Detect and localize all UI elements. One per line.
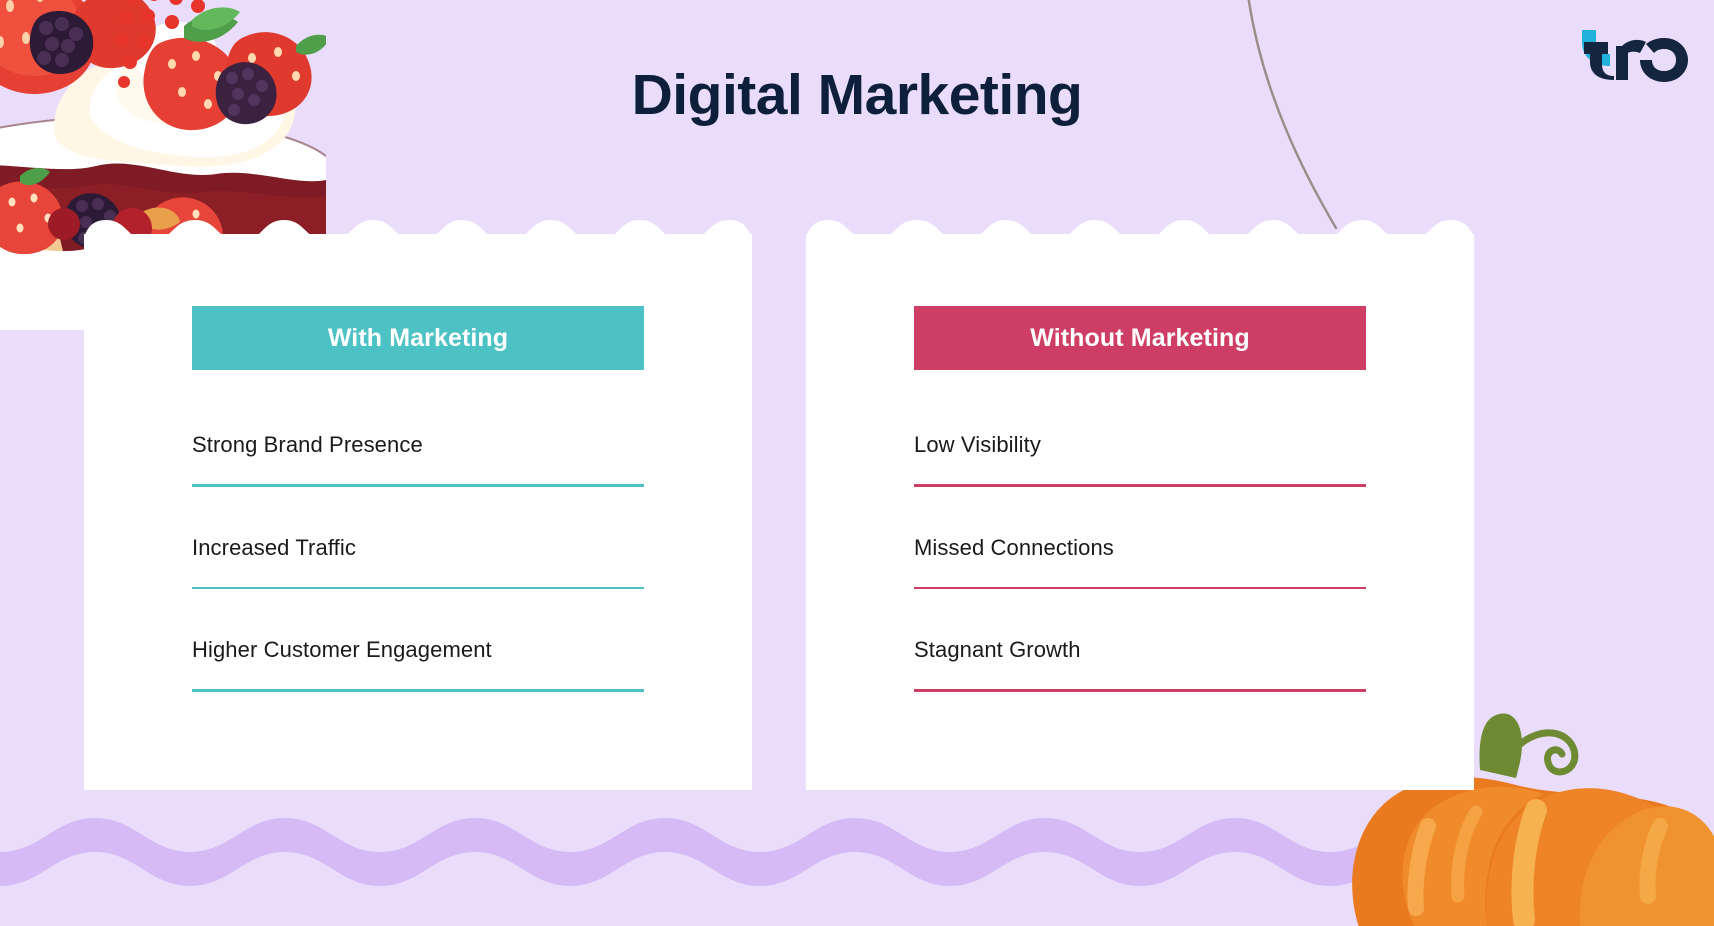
list-item-label: Low Visibility: [914, 430, 1366, 484]
column-header-with-marketing: With Marketing: [192, 306, 644, 370]
slide-canvas: Digital Marketing With Marketing Strong …: [0, 0, 1714, 926]
page-title: Digital Marketing: [0, 62, 1714, 128]
list-item[interactable]: Increased Traffic: [192, 533, 644, 590]
list-item[interactable]: Missed Connections: [914, 533, 1366, 590]
drawback-list: Low Visibility Missed Connections Stagna…: [914, 430, 1366, 692]
list-item[interactable]: Low Visibility: [914, 430, 1366, 487]
list-item[interactable]: Stagnant Growth: [914, 635, 1366, 692]
column-header-without-marketing: Without Marketing: [914, 306, 1366, 370]
benefit-list: Strong Brand Presence Increased Traffic …: [192, 430, 644, 692]
list-item-label: Missed Connections: [914, 533, 1366, 587]
bottom-wave-ribbon: [0, 812, 1714, 926]
list-item-label: Strong Brand Presence: [192, 430, 644, 484]
card-with-marketing: With Marketing Strong Brand Presence Inc…: [84, 208, 752, 790]
list-gap: [192, 589, 644, 635]
list-gap: [914, 487, 1366, 533]
list-gap: [192, 487, 644, 533]
list-separator: [192, 689, 644, 692]
card-without-marketing: Without Marketing Low Visibility Missed …: [806, 208, 1474, 790]
list-item[interactable]: Higher Customer Engagement: [192, 635, 644, 692]
card-content: Without Marketing Low Visibility Missed …: [806, 234, 1474, 790]
list-item-label: Stagnant Growth: [914, 635, 1366, 689]
list-gap: [914, 589, 1366, 635]
list-separator: [914, 689, 1366, 692]
list-item[interactable]: Strong Brand Presence: [192, 430, 644, 487]
list-item-label: Higher Customer Engagement: [192, 635, 644, 689]
list-item-label: Increased Traffic: [192, 533, 644, 587]
card-content: With Marketing Strong Brand Presence Inc…: [84, 234, 752, 790]
